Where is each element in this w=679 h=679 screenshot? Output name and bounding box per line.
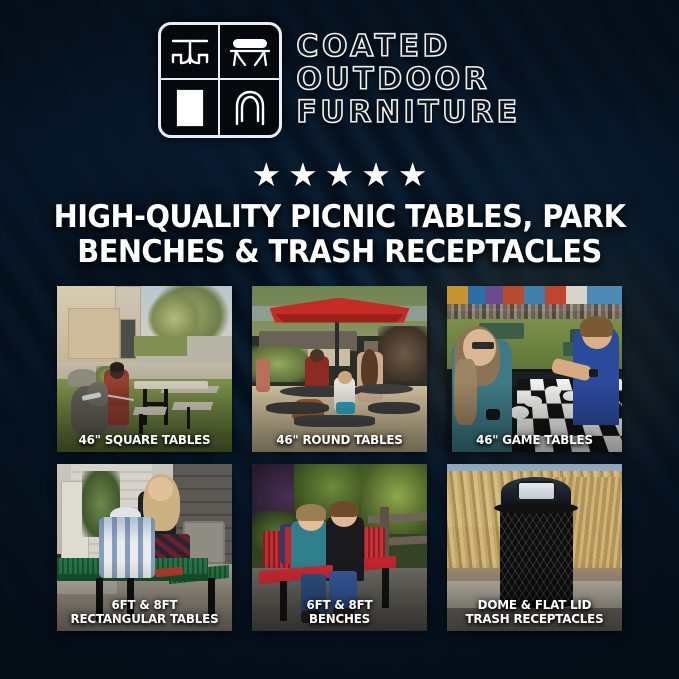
bench-icon bbox=[220, 25, 279, 80]
star-icon: ★ bbox=[398, 158, 428, 191]
picnic-table-icon bbox=[161, 25, 220, 80]
brand-logo: COATED OUTDOOR FURNITURE bbox=[0, 22, 679, 138]
bike-rack-icon bbox=[220, 80, 279, 135]
product-card-round-tables[interactable]: 46" ROUND TABLES bbox=[252, 286, 427, 452]
headline-line-2: BENCHES & TRASH RECEPTACLES bbox=[50, 235, 629, 270]
product-caption: DOME & FLAT LID TRASH RECEPTACLES bbox=[451, 598, 617, 627]
wordmark-line-3: FURNITURE bbox=[296, 97, 520, 129]
star-icon: ★ bbox=[361, 158, 391, 191]
product-caption: 6FT & 8FT BENCHES bbox=[256, 598, 422, 627]
product-card-trash-receptacles[interactable]: DOME & FLAT LID TRASH RECEPTACLES bbox=[447, 464, 622, 631]
photo-gradient-overlay bbox=[447, 286, 622, 452]
star-icon: ★ bbox=[288, 158, 318, 191]
product-caption: 46" ROUND TABLES bbox=[256, 433, 422, 447]
headline: HIGH-QUALITY PICNIC TABLES, PARK BENCHES… bbox=[50, 200, 629, 270]
wordmark-line-1: COATED bbox=[296, 31, 520, 63]
product-caption: 46" SQUARE TABLES bbox=[61, 433, 227, 447]
photo-gradient-overlay bbox=[57, 286, 232, 452]
promo-banner: COATED OUTDOOR FURNITURE ★ ★ ★ ★ ★ HIGH-… bbox=[0, 0, 679, 679]
star-icon: ★ bbox=[325, 158, 355, 191]
logo-icon-grid bbox=[158, 22, 282, 138]
product-caption: 46" GAME TABLES bbox=[451, 433, 617, 447]
star-rating: ★ ★ ★ ★ ★ bbox=[0, 158, 679, 191]
product-caption: 6FT & 8FT RECTANGULAR TABLES bbox=[61, 598, 227, 627]
product-card-square-tables[interactable]: 46" SQUARE TABLES bbox=[57, 286, 232, 452]
photo-gradient-overlay bbox=[252, 286, 427, 452]
headline-line-1: HIGH-QUALITY PICNIC TABLES, PARK bbox=[50, 200, 629, 235]
product-card-benches[interactable]: 6FT & 8FT BENCHES bbox=[252, 464, 427, 631]
product-card-game-tables[interactable]: 46" GAME TABLES bbox=[447, 286, 622, 452]
trash-receptacle-icon bbox=[161, 80, 220, 135]
product-thumbnail-grid: 46" SQUARE TABLES 46" ROUND TABLES bbox=[57, 286, 622, 631]
wordmark-line-2: OUTDOOR bbox=[296, 64, 520, 96]
star-icon: ★ bbox=[252, 158, 282, 191]
product-card-rectangular-tables[interactable]: 6FT & 8FT RECTANGULAR TABLES bbox=[57, 464, 232, 631]
brand-wordmark: COATED OUTDOOR FURNITURE bbox=[296, 31, 520, 128]
